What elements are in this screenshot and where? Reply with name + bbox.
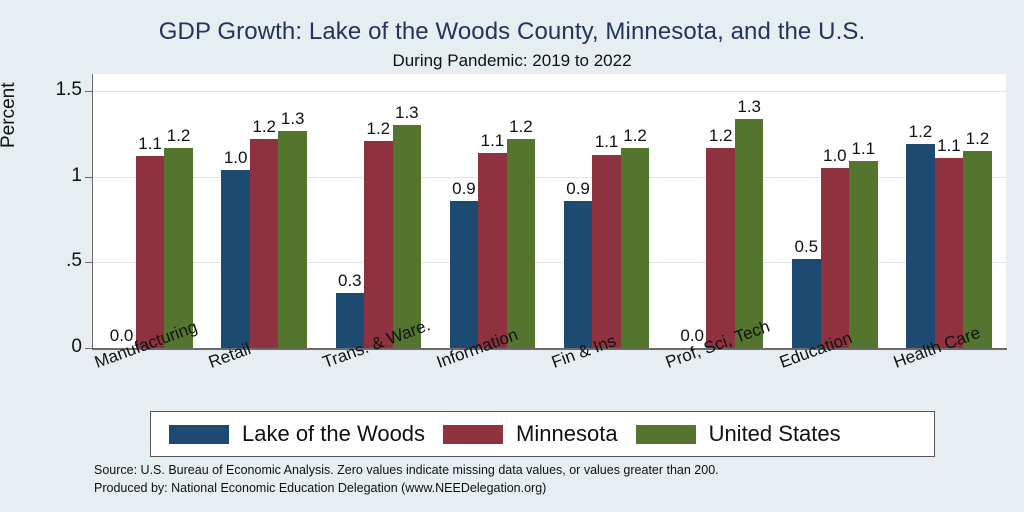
footnote-producer: Produced by: National Economic Education… <box>94 479 719 497</box>
bar[interactable] <box>621 148 650 348</box>
legend-label-minnesota: Minnesota <box>516 421 618 447</box>
bar[interactable] <box>706 148 735 348</box>
y-tick-mark <box>85 262 93 263</box>
bar[interactable] <box>278 131 307 348</box>
chart-legend: Lake of the Woods Minnesota United State… <box>150 411 935 457</box>
legend-item-lake-of-the-woods[interactable]: Lake of the Woods <box>169 421 425 447</box>
legend-item-united-states[interactable]: United States <box>636 421 841 447</box>
bar[interactable] <box>849 161 878 348</box>
bar-value-label: 1.2 <box>957 129 998 149</box>
bar[interactable] <box>478 153 507 348</box>
bar-value-label: 1.2 <box>158 126 199 146</box>
bar[interactable] <box>364 141 393 348</box>
footnote: Source: U.S. Bureau of Economic Analysis… <box>94 461 719 497</box>
y-tick-label: .5 <box>30 250 82 272</box>
bar[interactable] <box>963 151 992 348</box>
y-tick-mark <box>85 91 93 92</box>
bar[interactable] <box>792 259 821 348</box>
bar[interactable] <box>450 201 479 348</box>
bar[interactable] <box>507 139 536 348</box>
footnote-source: Source: U.S. Bureau of Economic Analysis… <box>94 461 719 479</box>
bar[interactable] <box>735 119 764 348</box>
y-axis-label: Percent <box>0 83 20 148</box>
bar-value-label: 1.2 <box>501 117 542 137</box>
bar-value-label: 1.3 <box>729 97 770 117</box>
y-tick-label: 1.5 <box>30 79 82 101</box>
bar-value-label: 1.3 <box>272 109 313 129</box>
legend-swatch-united-states <box>636 425 696 444</box>
bar-value-label: 1.3 <box>387 103 428 123</box>
bar[interactable] <box>821 168 850 348</box>
bar[interactable] <box>906 144 935 348</box>
gdp-growth-bar-chart: GDP Growth: Lake of the Woods County, Mi… <box>0 0 1024 512</box>
legend-swatch-lake-of-the-woods <box>169 425 229 444</box>
legend-label-lake-of-the-woods: Lake of the Woods <box>242 421 425 447</box>
bar[interactable] <box>592 155 621 349</box>
bar[interactable] <box>935 158 964 348</box>
bar[interactable] <box>221 170 250 348</box>
legend-item-minnesota[interactable]: Minnesota <box>443 421 618 447</box>
plot-area: 0.01.11.21.01.21.30.31.21.30.91.11.20.91… <box>93 74 1006 348</box>
legend-label-united-states: United States <box>709 421 841 447</box>
bar-value-label: 1.2 <box>615 126 656 146</box>
legend-swatch-minnesota <box>443 425 503 444</box>
bar-value-label: 1.1 <box>843 139 884 159</box>
bar[interactable] <box>136 156 165 348</box>
chart-title: GDP Growth: Lake of the Woods County, Mi… <box>0 18 1024 46</box>
chart-subtitle: During Pandemic: 2019 to 2022 <box>0 51 1024 71</box>
y-tick-label: 0 <box>30 336 82 358</box>
y-tick-mark <box>85 348 93 349</box>
bar[interactable] <box>564 201 593 348</box>
bar[interactable] <box>393 125 422 348</box>
y-tick-mark <box>85 177 93 178</box>
y-tick-label: 1 <box>30 165 82 187</box>
y-axis-line <box>92 74 93 349</box>
bar[interactable] <box>250 139 279 348</box>
gridline <box>93 91 1006 92</box>
